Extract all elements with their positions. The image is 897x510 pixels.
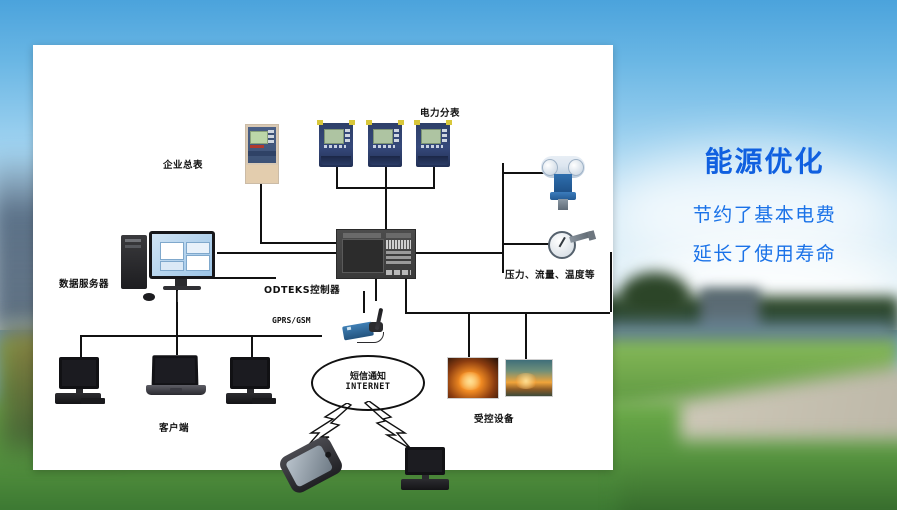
data-server-label: 数据服务器 — [59, 276, 109, 290]
connector-line — [336, 167, 338, 189]
marketing-benefit-1: 节约了基本电费 — [632, 200, 897, 227]
connector-line — [610, 252, 612, 312]
system-topology-diagram: 企业总表 电力分表 ODTEKS控制器 — [33, 45, 613, 470]
furnace-icon — [447, 357, 499, 399]
background-tree — [620, 272, 690, 320]
desktop-pc-icon — [401, 447, 453, 491]
connector-line — [80, 335, 322, 337]
modem-label: GPRS/GSM — [272, 316, 311, 325]
wireless-bolt-icon — [363, 401, 415, 451]
controller-icon — [336, 229, 416, 279]
electric-meter-icon — [368, 123, 402, 167]
sensor-group-label: 压力、流量、温度等 — [505, 267, 595, 281]
connector-line — [405, 312, 610, 314]
background-grass — [620, 440, 897, 510]
pressure-transmitter-icon — [541, 152, 585, 210]
connector-line — [433, 167, 435, 189]
electric-meter-icon — [416, 123, 450, 167]
electric-meter-icon — [245, 124, 279, 184]
connector-line — [217, 252, 338, 254]
connector-line — [525, 312, 527, 360]
marketing-text-block: 能源优化 节约了基本电费 延长了使用寿命 — [632, 140, 897, 266]
desktop-pc-icon — [55, 357, 105, 405]
system-diagram-card: 企业总表 电力分表 ODTEKS控制器 — [33, 45, 613, 470]
controlled-equipment-label: 受控设备 — [474, 411, 514, 425]
cloud-sublabel: INTERNET — [313, 382, 423, 392]
laptop-icon — [146, 355, 206, 401]
marketing-heading: 能源优化 — [632, 140, 897, 180]
connector-line — [176, 335, 178, 355]
controller-label: ODTEKS控制器 — [264, 282, 340, 296]
connector-line — [385, 167, 387, 189]
connector-line — [251, 335, 253, 357]
connector-line — [468, 312, 470, 358]
main-meter-label: 企业总表 — [163, 157, 203, 171]
cloud-label: 短信通知 — [313, 369, 423, 382]
connector-line — [502, 163, 504, 273]
slide-canvas: 企业总表 电力分表 ODTEKS控制器 — [0, 0, 897, 510]
connector-line — [375, 277, 377, 301]
marketing-benefit-2: 延长了使用寿命 — [632, 239, 897, 266]
electric-meter-icon — [319, 123, 353, 167]
furnace-icon — [505, 359, 553, 397]
desktop-pc-icon — [226, 357, 276, 405]
server-icon — [121, 231, 219, 303]
connector-line — [405, 277, 407, 312]
connector-line — [502, 243, 550, 245]
gprs-modem-icon — [343, 310, 395, 342]
client-label: 客户端 — [159, 420, 189, 434]
connector-line — [414, 252, 504, 254]
connector-line — [385, 187, 387, 231]
connector-line — [260, 182, 262, 244]
connector-line — [80, 335, 82, 357]
pressure-gauge-icon — [548, 229, 594, 263]
sub-meter-label: 电力分表 — [420, 105, 460, 119]
connector-line — [260, 242, 338, 244]
connector-line — [502, 172, 544, 174]
